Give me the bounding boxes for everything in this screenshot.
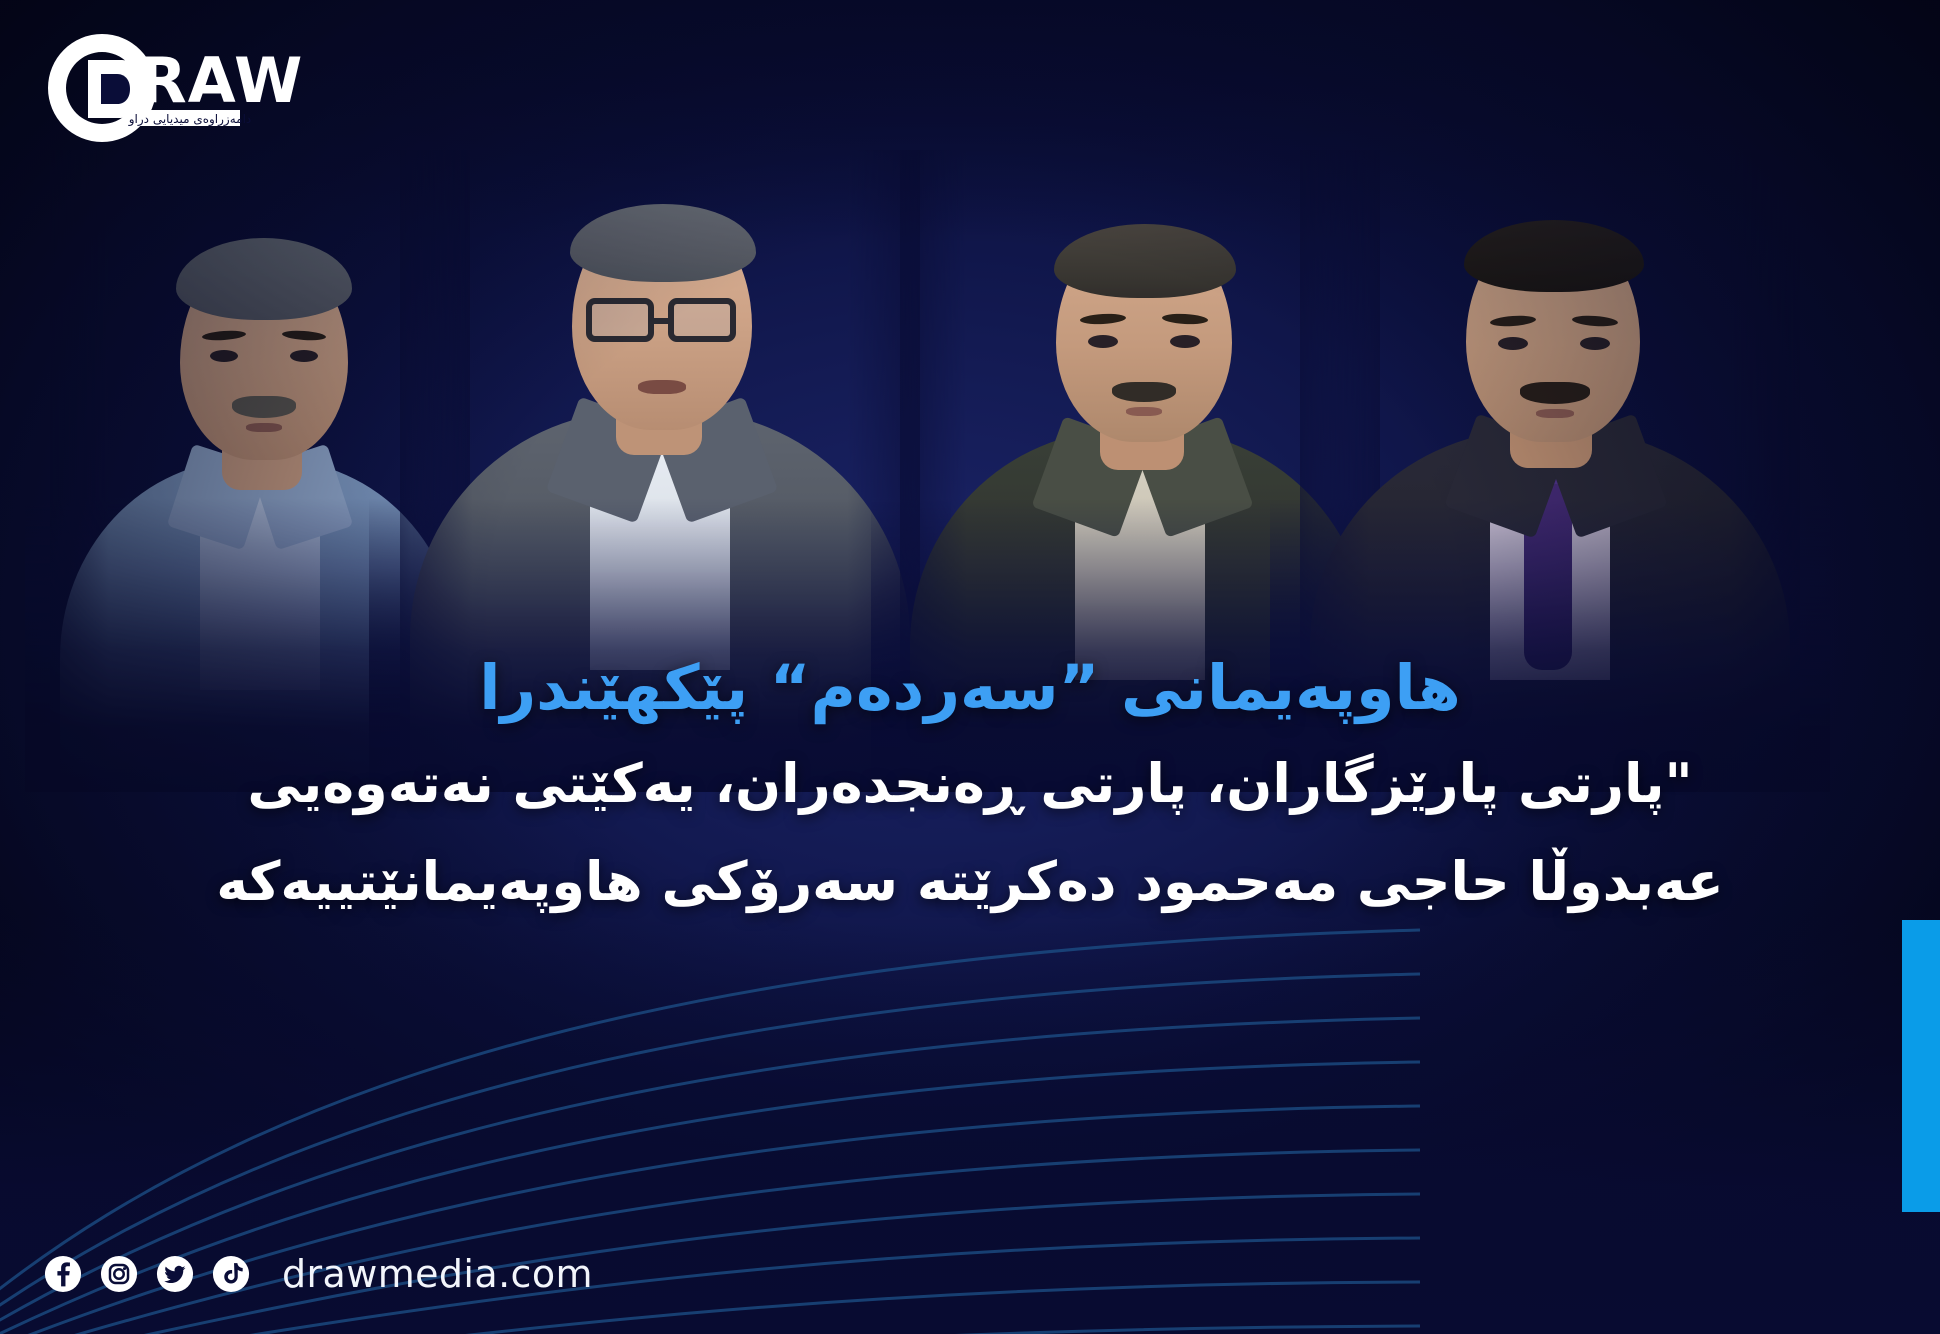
news-graphic-poster: RAW دامەزراوەی میدیایی دراو هاوپەیمانی ”… xyxy=(0,0,1940,1334)
tiktok-icon[interactable] xyxy=(212,1255,250,1293)
twitter-icon[interactable] xyxy=(156,1255,194,1293)
draw-media-logo[interactable]: RAW دامەزراوەی میدیایی دراو xyxy=(44,30,334,145)
logo-wordmark: RAW xyxy=(139,44,303,117)
headline-block: هاوپەیمانی ”سەردەم“ پێکهێندرا "پارتی پار… xyxy=(0,648,1940,924)
footer-bar: drawmedia.com xyxy=(44,1252,593,1296)
headline-kicker: هاوپەیمانی ”سەردەم“ پێکهێندرا xyxy=(0,648,1940,727)
headline-line-1: "پارتی پارێزگاران، پارتی ڕەنجدەران، یەکێ… xyxy=(0,743,1940,825)
right-accent-bar xyxy=(1902,920,1940,1212)
logo-tagline: دامەزراوەی میدیایی دراو xyxy=(128,112,252,127)
website-url[interactable]: drawmedia.com xyxy=(282,1252,593,1296)
instagram-icon[interactable] xyxy=(100,1255,138,1293)
headline-line-2: عەبدوڵا حاجی مەحمود دەکرێتە سەرۆکی هاوپە… xyxy=(0,841,1940,923)
facebook-icon[interactable] xyxy=(44,1255,82,1293)
